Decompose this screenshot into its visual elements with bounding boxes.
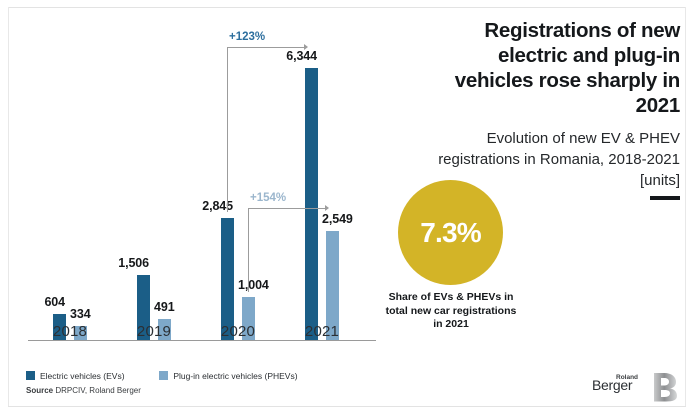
- legend-label-ev: Electric vehicles (EVs): [40, 371, 125, 381]
- annotation-154-vline: [248, 208, 249, 292]
- legend-swatch-phev-icon: [159, 371, 168, 380]
- source-text: DRPCIV, Roland Berger: [55, 386, 141, 395]
- bar-value-ev-2018: 604: [25, 295, 65, 309]
- x-tick-2020: 2020: [196, 323, 280, 340]
- source-note: Source DRPCIV, Roland Berger: [26, 386, 141, 395]
- kpi-circle: 7.3%: [398, 180, 503, 285]
- legend-item-ev: Electric vehicles (EVs): [26, 371, 125, 381]
- kpi-value: 7.3%: [420, 217, 481, 249]
- bar-value-phev-2018: 334: [70, 307, 118, 321]
- chart-legend: Electric vehicles (EVs) Plug-in electric…: [26, 370, 298, 381]
- bar-ev-2020[interactable]: [221, 218, 234, 340]
- page-title: Registrations of new electric and plug-i…: [422, 18, 680, 118]
- logo-roland-text: Roland: [616, 374, 638, 381]
- x-tick-2021: 2021: [280, 323, 364, 340]
- kpi-caption: Share of EVs & PHEVs in total new car re…: [385, 291, 517, 332]
- logo-b-mark-icon: [652, 372, 678, 402]
- annotation-123-label: +123%: [229, 31, 265, 43]
- annotation-123-vline: [227, 47, 228, 212]
- bar-value-phev-2019: 491: [154, 300, 202, 314]
- frame-right-border: [685, 7, 686, 407]
- title-rule-divider: [650, 196, 680, 200]
- infographic-slide: 604 334 2018 1,506 491 2019 2,845 1,004 …: [0, 0, 694, 420]
- bar-group-2019: 1,506 491 2019: [112, 40, 196, 340]
- x-axis-line: [28, 340, 376, 341]
- logo-wordmark: Roland Berger: [592, 377, 648, 393]
- bar-chart: 604 334 2018 1,506 491 2019 2,845 1,004 …: [22, 20, 382, 365]
- frame-top-border: [8, 7, 686, 8]
- bar-ev-2021[interactable]: [305, 68, 318, 340]
- bar-group-2021: 6,344 2,549 2021: [280, 40, 364, 340]
- annotation-123-hline: [227, 47, 305, 48]
- bar-value-phev-2021: 2,549: [322, 212, 370, 226]
- bar-value-ev-2019: 1,506: [109, 256, 149, 270]
- frame-bottom-border: [8, 406, 686, 407]
- bar-group-2018: 604 334 2018: [28, 40, 112, 340]
- annotation-123-arrowhead: [304, 44, 308, 50]
- legend-item-phev: Plug-in electric vehicles (PHEVs): [159, 371, 297, 381]
- x-tick-2019: 2019: [112, 323, 196, 340]
- roland-berger-logo: Roland Berger: [592, 372, 678, 406]
- legend-swatch-ev-icon: [26, 371, 35, 380]
- annotation-154-hline: [248, 208, 326, 209]
- bar-value-ev-2021: 6,344: [277, 49, 317, 63]
- bar-value-phev-2020: 1,004: [238, 278, 286, 292]
- x-tick-2018: 2018: [28, 323, 112, 340]
- source-label: Source: [26, 386, 53, 395]
- frame-left-border: [8, 7, 9, 407]
- annotation-154-arrowhead: [325, 205, 329, 211]
- annotation-154-label: +154%: [250, 192, 286, 204]
- legend-label-phev: Plug-in electric vehicles (PHEVs): [173, 371, 297, 381]
- bar-group-2020: 2,845 1,004 2020: [196, 40, 280, 340]
